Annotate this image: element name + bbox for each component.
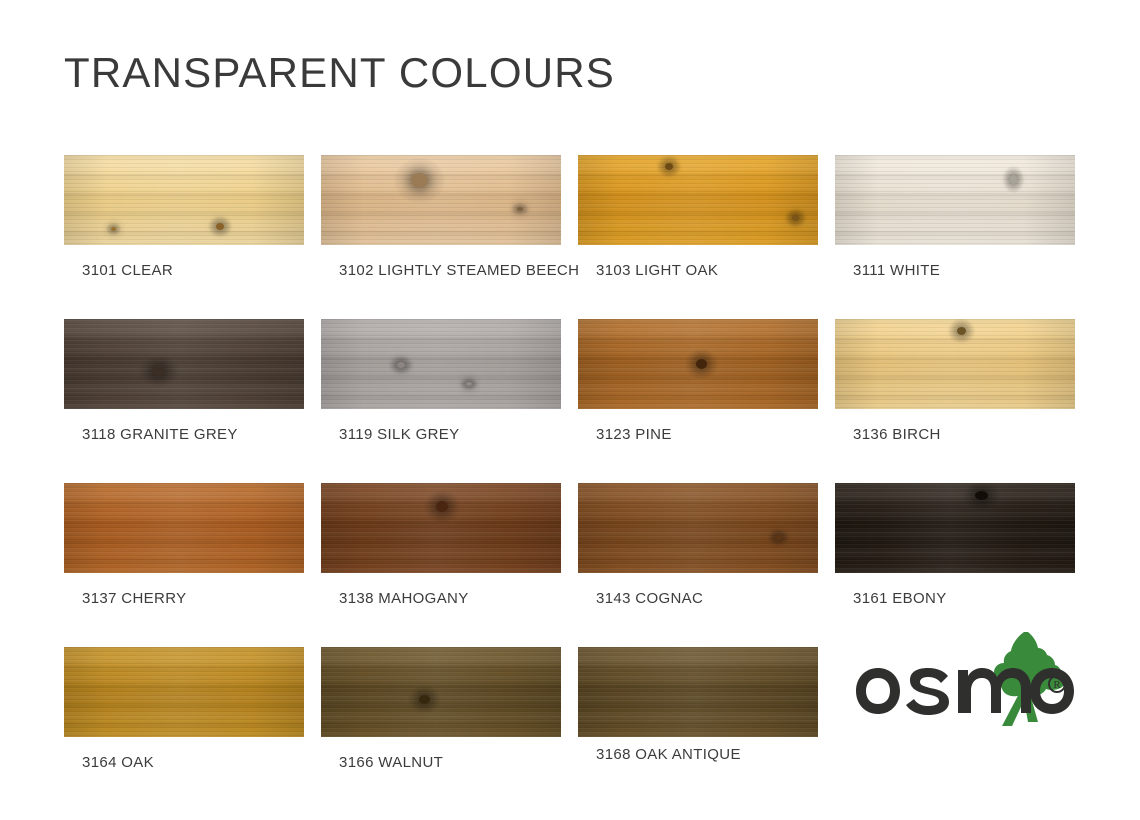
wood-knot <box>152 366 166 376</box>
wood-grain-texture <box>321 319 561 409</box>
wood-knot <box>111 227 116 231</box>
wood-knot <box>517 207 523 211</box>
swatch-label: 3119 SILK GREY <box>321 426 561 443</box>
colour-swatch[interactable] <box>321 483 561 573</box>
swatch-cell[interactable]: 3136 BIRCH <box>835 319 1075 443</box>
wood-grain-texture <box>835 155 1075 245</box>
colour-swatch[interactable] <box>835 319 1075 409</box>
swatch-label: 3161 EBONY <box>835 590 1075 607</box>
swatch-cell[interactable]: 3118 GRANITE GREY <box>64 319 304 443</box>
swatch-cell[interactable]: 3102 LIGHTLY STEAMED BEECH <box>321 155 561 279</box>
wood-knot <box>792 215 799 221</box>
swatch-label: 3166 WALNUT <box>321 754 561 771</box>
wood-grain-texture <box>835 483 1075 573</box>
wood-grain-texture <box>64 155 304 245</box>
colour-swatch[interactable] <box>64 647 304 737</box>
swatch-cell[interactable]: 3143 COGNAC <box>578 483 818 607</box>
wood-knot <box>1010 175 1017 184</box>
colour-chart-page: TRANSPARENT COLOURS 3101 CLEAR3102 LIGHT… <box>0 0 1140 820</box>
swatch-label: 3118 GRANITE GREY <box>64 426 304 443</box>
wood-knot <box>466 382 472 386</box>
wood-knot <box>665 163 673 170</box>
colour-swatch[interactable] <box>321 155 561 245</box>
swatch-label: 3138 MAHOGANY <box>321 590 561 607</box>
colour-swatch[interactable] <box>64 483 304 573</box>
swatch-cell[interactable]: 3164 OAK <box>64 647 304 771</box>
osmo-logo: R <box>852 630 1076 726</box>
wood-knot <box>957 327 966 335</box>
swatch-label: 3136 BIRCH <box>835 426 1075 443</box>
wood-knot <box>775 535 782 540</box>
swatch-label: 3102 LIGHTLY STEAMED BEECH <box>321 262 561 279</box>
swatch-label: 3137 CHERRY <box>64 590 304 607</box>
svg-text:R: R <box>1053 679 1061 691</box>
swatch-cell[interactable]: 3138 MAHOGANY <box>321 483 561 607</box>
swatch-label: 3111 WHITE <box>835 262 1075 279</box>
swatch-cell[interactable]: 3103 LIGHT OAK <box>578 155 818 279</box>
wood-grain-texture <box>64 319 304 409</box>
wood-grain-texture <box>64 647 304 737</box>
colour-swatch[interactable] <box>578 155 818 245</box>
colour-swatch[interactable] <box>835 483 1075 573</box>
colour-swatch[interactable] <box>578 319 818 409</box>
wood-knot <box>975 491 988 500</box>
swatch-cell[interactable]: 3161 EBONY <box>835 483 1075 607</box>
wood-grain-texture <box>578 647 818 737</box>
swatch-cell[interactable]: 3168 OAK ANTIQUE <box>578 647 818 771</box>
wood-knot <box>696 359 707 369</box>
swatch-label: 3123 PINE <box>578 426 818 443</box>
wood-grain-texture <box>321 647 561 737</box>
colour-swatch[interactable] <box>835 155 1075 245</box>
wood-knot <box>436 501 448 512</box>
page-title: TRANSPARENT COLOURS <box>64 52 615 94</box>
swatch-label: 3164 OAK <box>64 754 304 771</box>
colour-swatch[interactable] <box>578 483 818 573</box>
colour-swatch[interactable] <box>64 155 304 245</box>
swatch-label: 3168 OAK ANTIQUE <box>578 746 818 763</box>
swatch-cell[interactable]: 3111 WHITE <box>835 155 1075 279</box>
wood-knot <box>216 223 224 230</box>
colour-swatch[interactable] <box>321 647 561 737</box>
wood-knot <box>411 173 428 188</box>
swatch-cell[interactable]: 3123 PINE <box>578 319 818 443</box>
swatch-cell[interactable]: 3166 WALNUT <box>321 647 561 771</box>
swatch-cell[interactable]: 3137 CHERRY <box>64 483 304 607</box>
osmo-logo-graphic: R <box>852 630 1076 726</box>
wood-knot <box>419 695 430 704</box>
wood-grain-texture <box>578 155 818 245</box>
wood-knot <box>397 362 405 368</box>
wood-grain-texture <box>578 483 818 573</box>
colour-swatch[interactable] <box>578 647 818 737</box>
swatch-label: 3103 LIGHT OAK <box>578 262 818 279</box>
swatch-cell[interactable]: 3119 SILK GREY <box>321 319 561 443</box>
swatch-label: 3101 CLEAR <box>64 262 304 279</box>
colour-swatch[interactable] <box>64 319 304 409</box>
colour-swatch[interactable] <box>321 319 561 409</box>
swatch-cell[interactable]: 3101 CLEAR <box>64 155 304 279</box>
swatch-label: 3143 COGNAC <box>578 590 818 607</box>
wood-grain-texture <box>64 483 304 573</box>
